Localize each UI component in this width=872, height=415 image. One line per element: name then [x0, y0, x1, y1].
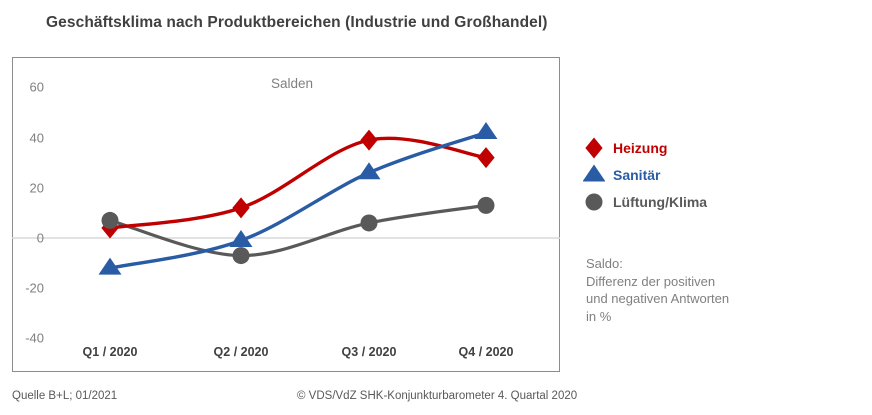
footer-copyright: © VDS/VdZ SHK-Konjunkturbarometer 4. Qua… — [297, 390, 577, 402]
chart-container: Geschäftsklima nach Produktbereichen (In… — [0, 0, 872, 415]
saldo-note: Saldo:Differenz der positivenund negativ… — [586, 255, 729, 325]
legend: HeizungSanitärLüftung/Klima — [583, 134, 707, 215]
x-tick-label: Q3 / 2020 — [342, 345, 397, 359]
plot-svg — [12, 57, 560, 372]
note-line: und negativen Antworten — [586, 290, 729, 308]
note-line: in % — [586, 308, 729, 326]
legend-item-sanit-r[interactable]: Sanitär — [583, 161, 707, 188]
legend-item-l-ftung-klima[interactable]: Lüftung/Klima — [583, 188, 707, 215]
footer-source: Quelle B+L; 01/2021 — [12, 390, 117, 402]
note-line: Saldo: — [586, 255, 729, 273]
y-tick-label: 20 — [0, 180, 44, 195]
x-tick-label: Q4 / 2020 — [459, 345, 514, 359]
diamond-marker-icon — [583, 137, 605, 159]
circle-marker-icon — [583, 191, 605, 213]
page-title: Geschäftsklima nach Produktbereichen (In… — [46, 14, 548, 32]
legend-label: Sanitär — [613, 167, 660, 183]
y-tick-label: -20 — [0, 281, 44, 296]
x-tick-label: Q1 / 2020 — [83, 345, 138, 359]
y-tick-label: 60 — [0, 80, 44, 95]
legend-item-heizung[interactable]: Heizung — [583, 134, 707, 161]
y-tick-label: -40 — [0, 331, 44, 346]
x-tick-label: Q2 / 2020 — [214, 345, 269, 359]
legend-label: Lüftung/Klima — [613, 194, 707, 210]
subtitle-salden: Salden — [271, 76, 313, 91]
y-tick-label: 0 — [0, 231, 44, 246]
legend-label: Heizung — [613, 140, 667, 156]
y-tick-label: 40 — [0, 130, 44, 145]
triangle-marker-icon — [583, 164, 605, 186]
note-line: Differenz der positiven — [586, 273, 729, 291]
